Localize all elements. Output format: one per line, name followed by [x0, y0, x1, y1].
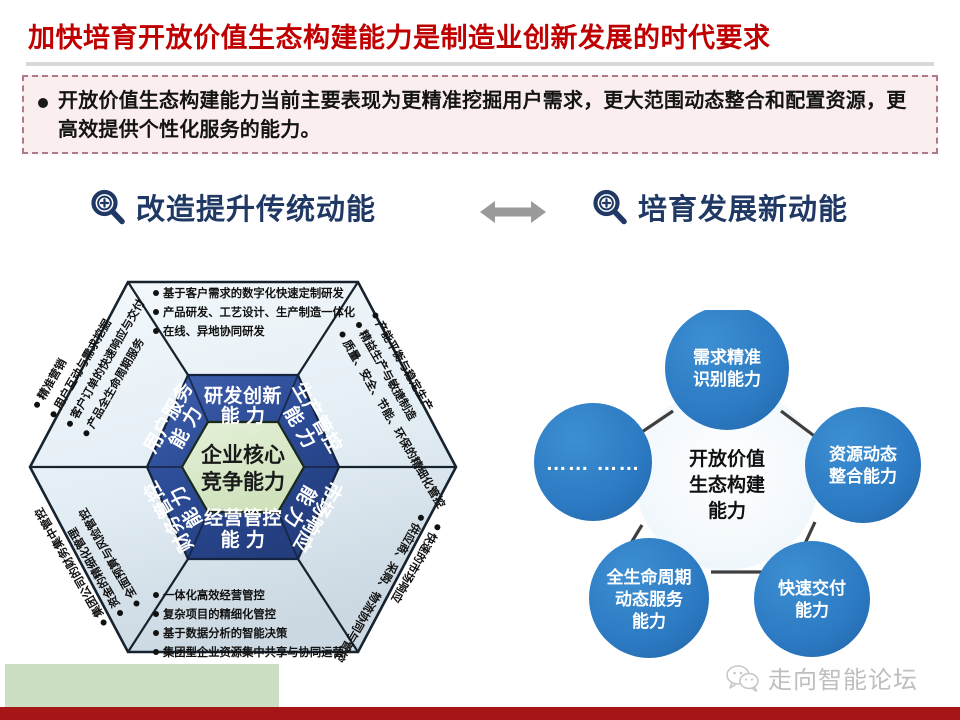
hexagon-segment-rd-name: 研发创新 — [204, 384, 282, 407]
ecosystem-node-lifecycle-line2: 动态服务 — [615, 589, 684, 609]
ecosystem-node-demand-line2: 识别能力 — [693, 369, 761, 389]
title-divider — [26, 62, 934, 66]
ecosystem-center-line1: 开放价值 — [689, 447, 765, 470]
open-value-ecosystem-diagram: 需求精准 识别能力 资源动态 整合能力 快速交付 能力 全生命周期 动态服务 能… — [515, 310, 955, 670]
watermark-text: 走向智能论坛 — [768, 660, 918, 695]
hexagon-outer-top-0: 基于客户需求的数字化快速定制研发 — [162, 286, 344, 300]
footer-red-bar — [0, 707, 960, 720]
section-header-right-label: 培育发展新动能 — [638, 186, 848, 228]
callout-text: 开放价值生态构建能力当前主要表现为更精准挖掘用户需求，更大范围动态整合和配置资源… — [58, 87, 924, 145]
hexagon-outer-bottom-1: 复杂项目的精细化管控 — [162, 607, 277, 621]
section-header-left-label: 改造提升传统动能 — [136, 186, 376, 228]
double-arrow-icon — [480, 198, 546, 226]
footer-green-bar — [5, 664, 279, 707]
ecosystem-node-delivery-line2: 能力 — [795, 600, 829, 620]
ecosystem-center-line2: 生态构建 — [689, 473, 765, 496]
ecosystem-node-more[interactable]: …… …… — [534, 403, 652, 521]
magnifier-plus-icon — [88, 187, 128, 227]
hexagon-outer-bottom-0: 一体化高效经营管控 — [163, 588, 265, 602]
hexagon-core — [182, 422, 304, 512]
hexagon-outer-top-1: 产品研发、工艺设计、生产制造一体化 — [163, 305, 356, 319]
watermark: 走向智能论坛 — [726, 660, 918, 695]
wechat-icon — [726, 664, 760, 692]
magnifier-plus-icon — [590, 187, 630, 227]
ecosystem-node-resource-line2: 整合能力 — [829, 466, 897, 486]
hexagon-segment-operate-name: 经营管控 — [204, 506, 282, 529]
section-header-left: 改造提升传统动能 — [88, 186, 376, 228]
hexagon-core-line1: 企业核心 — [200, 443, 285, 467]
ecosystem-node-lifecycle-line1: 全生命周期 — [606, 567, 692, 587]
ecosystem-node-lifecycle[interactable]: 全生命周期 动态服务 能力 — [589, 538, 709, 658]
callout-box: 开放价值生态构建能力当前主要表现为更精准挖掘用户需求，更大范围动态整合和配置资源… — [22, 75, 938, 154]
ecosystem-node-delivery[interactable]: 快速交付 能力 — [754, 541, 870, 657]
page-title: 加快培育开放价值生态构建能力是制造业创新发展的时代要求 — [28, 16, 771, 55]
hexagon-capability-diagram: 企业核心 竞争能力 研发创新 能 力 生产管控 能 力 市场响应 能 力 经营管… — [8, 262, 478, 672]
hexagon-outer-top-2: 在线、异地协同研发 — [163, 324, 265, 338]
ecosystem-node-more-label: …… …… — [546, 452, 641, 475]
bullet-dot-icon — [38, 98, 48, 108]
ecosystem-node-lifecycle-line3: 能力 — [632, 611, 666, 631]
ecosystem-node-resource-line1: 资源动态 — [829, 444, 897, 464]
ecosystem-node-resource[interactable]: 资源动态 整合能力 — [805, 407, 921, 523]
ecosystem-node-demand-line1: 需求精准 — [693, 347, 761, 367]
hexagon-outer-bottom-3: 集团型企业资源集中共享与协同运营 — [162, 645, 344, 659]
ecosystem-node-delivery-line1: 快速交付 — [778, 578, 846, 598]
hexagon-outer-bottom-2: 基于数据分析的智能决策 — [162, 626, 288, 640]
hexagon-core-line2: 竞争能力 — [201, 470, 285, 494]
ecosystem-node-demand[interactable]: 需求精准 识别能力 — [665, 310, 789, 430]
ecosystem-center-line3: 能力 — [708, 499, 746, 522]
hexagon-segment-rd-suffix: 能 力 — [221, 404, 266, 427]
slide-root: 加快培育开放价值生态构建能力是制造业创新发展的时代要求 开放价值生态构建能力当前… — [0, 0, 960, 720]
section-header-right: 培育发展新动能 — [590, 186, 848, 228]
hexagon-segment-operate-suffix: 能 力 — [221, 528, 266, 551]
